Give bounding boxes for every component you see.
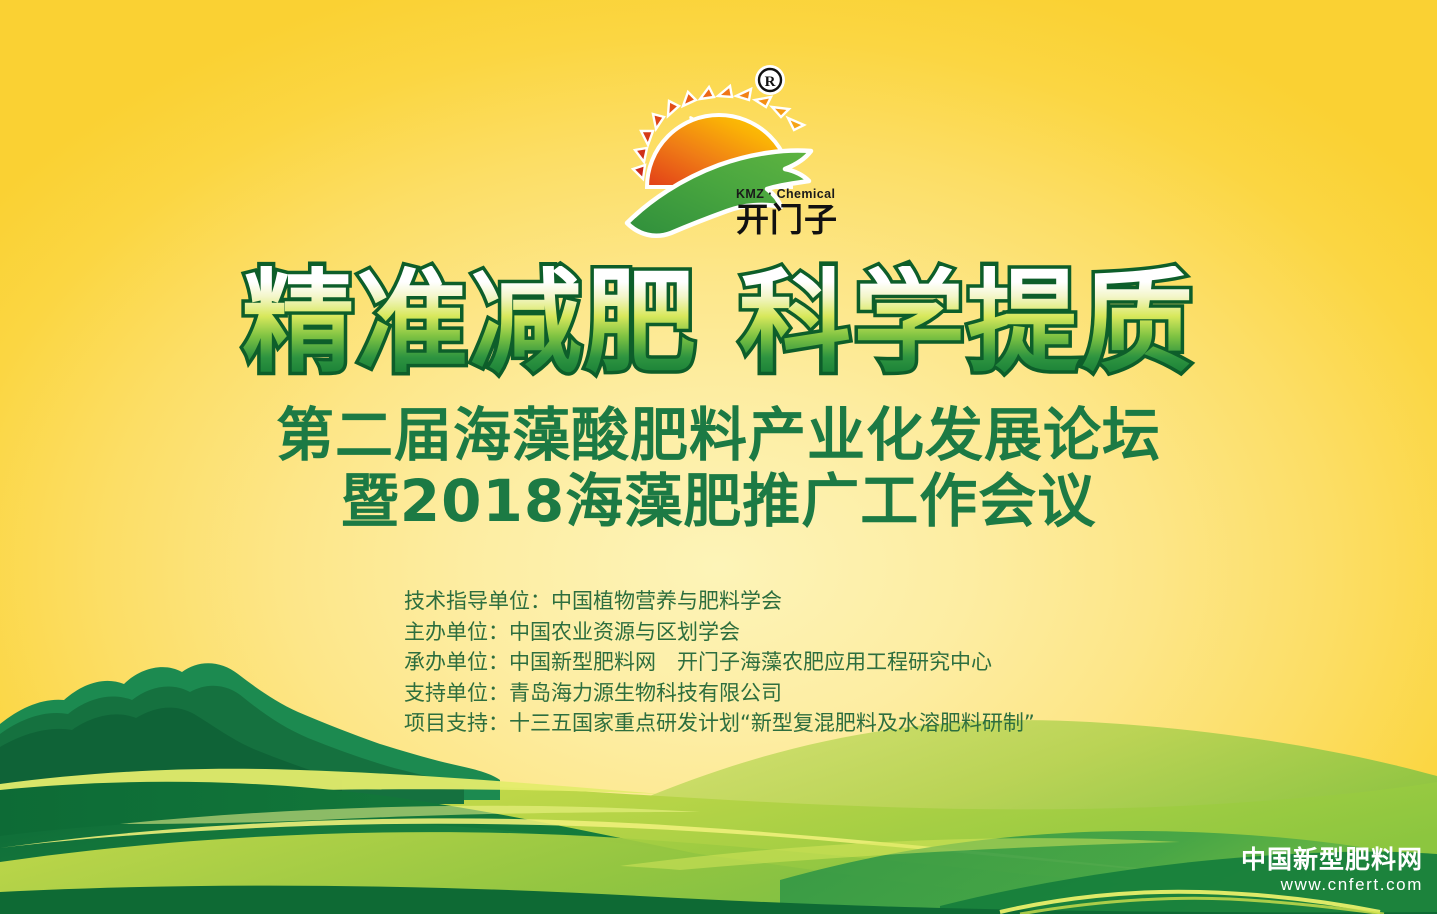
headline: 精准减肥 科学提质 精准减肥 科学提质 bbox=[0, 266, 1437, 380]
registered-trademark-icon: R bbox=[755, 65, 785, 95]
conference-banner: R KMZ · Chemical 开门子 精准减肥 科学提质 精准减肥 科学提质… bbox=[0, 0, 1437, 914]
svg-text:R: R bbox=[765, 74, 776, 90]
subtitle-line-2: 暨2018海藻肥推广工作会议 bbox=[0, 468, 1437, 535]
subtitle: 第二届海藻酸肥料产业化发展论坛 暨2018海藻肥推广工作会议 bbox=[0, 404, 1437, 535]
site-watermark: 中国新型肥料网 www.cnfert.com bbox=[1241, 846, 1423, 896]
credit-line-organizer: 主办单位：中国农业资源与区划学会 bbox=[404, 617, 1035, 648]
brand-logo: R KMZ · Chemical 开门子 bbox=[619, 55, 839, 255]
brand-cn-text: 开门子 bbox=[736, 200, 838, 239]
headline-text: 精准减肥 科学提质 bbox=[242, 266, 1195, 380]
credit-line-undertaker: 承办单位：中国新型肥料网 开门子海藻农肥应用工程研究中心 bbox=[404, 647, 1035, 678]
credits-block: 技术指导单位：中国植物营养与肥料学会 主办单位：中国农业资源与区划学会 承办单位… bbox=[404, 586, 1035, 739]
watermark-site-name: 中国新型肥料网 bbox=[1241, 846, 1423, 874]
credit-line-technical-guidance: 技术指导单位：中国植物营养与肥料学会 bbox=[404, 586, 1035, 617]
watermark-url: www.cnfert.com bbox=[1241, 874, 1423, 896]
credit-line-project-support: 项目支持：十三五国家重点研发计划“新型复混肥料及水溶肥料研制” bbox=[404, 708, 1035, 739]
brand-en-text: KMZ · Chemical bbox=[736, 187, 835, 201]
credit-line-supporter: 支持单位：青岛海力源生物科技有限公司 bbox=[404, 678, 1035, 709]
subtitle-line-1: 第二届海藻酸肥料产业化发展论坛 bbox=[0, 404, 1437, 468]
logo-graphic: R KMZ · Chemical 开门子 bbox=[619, 55, 839, 255]
